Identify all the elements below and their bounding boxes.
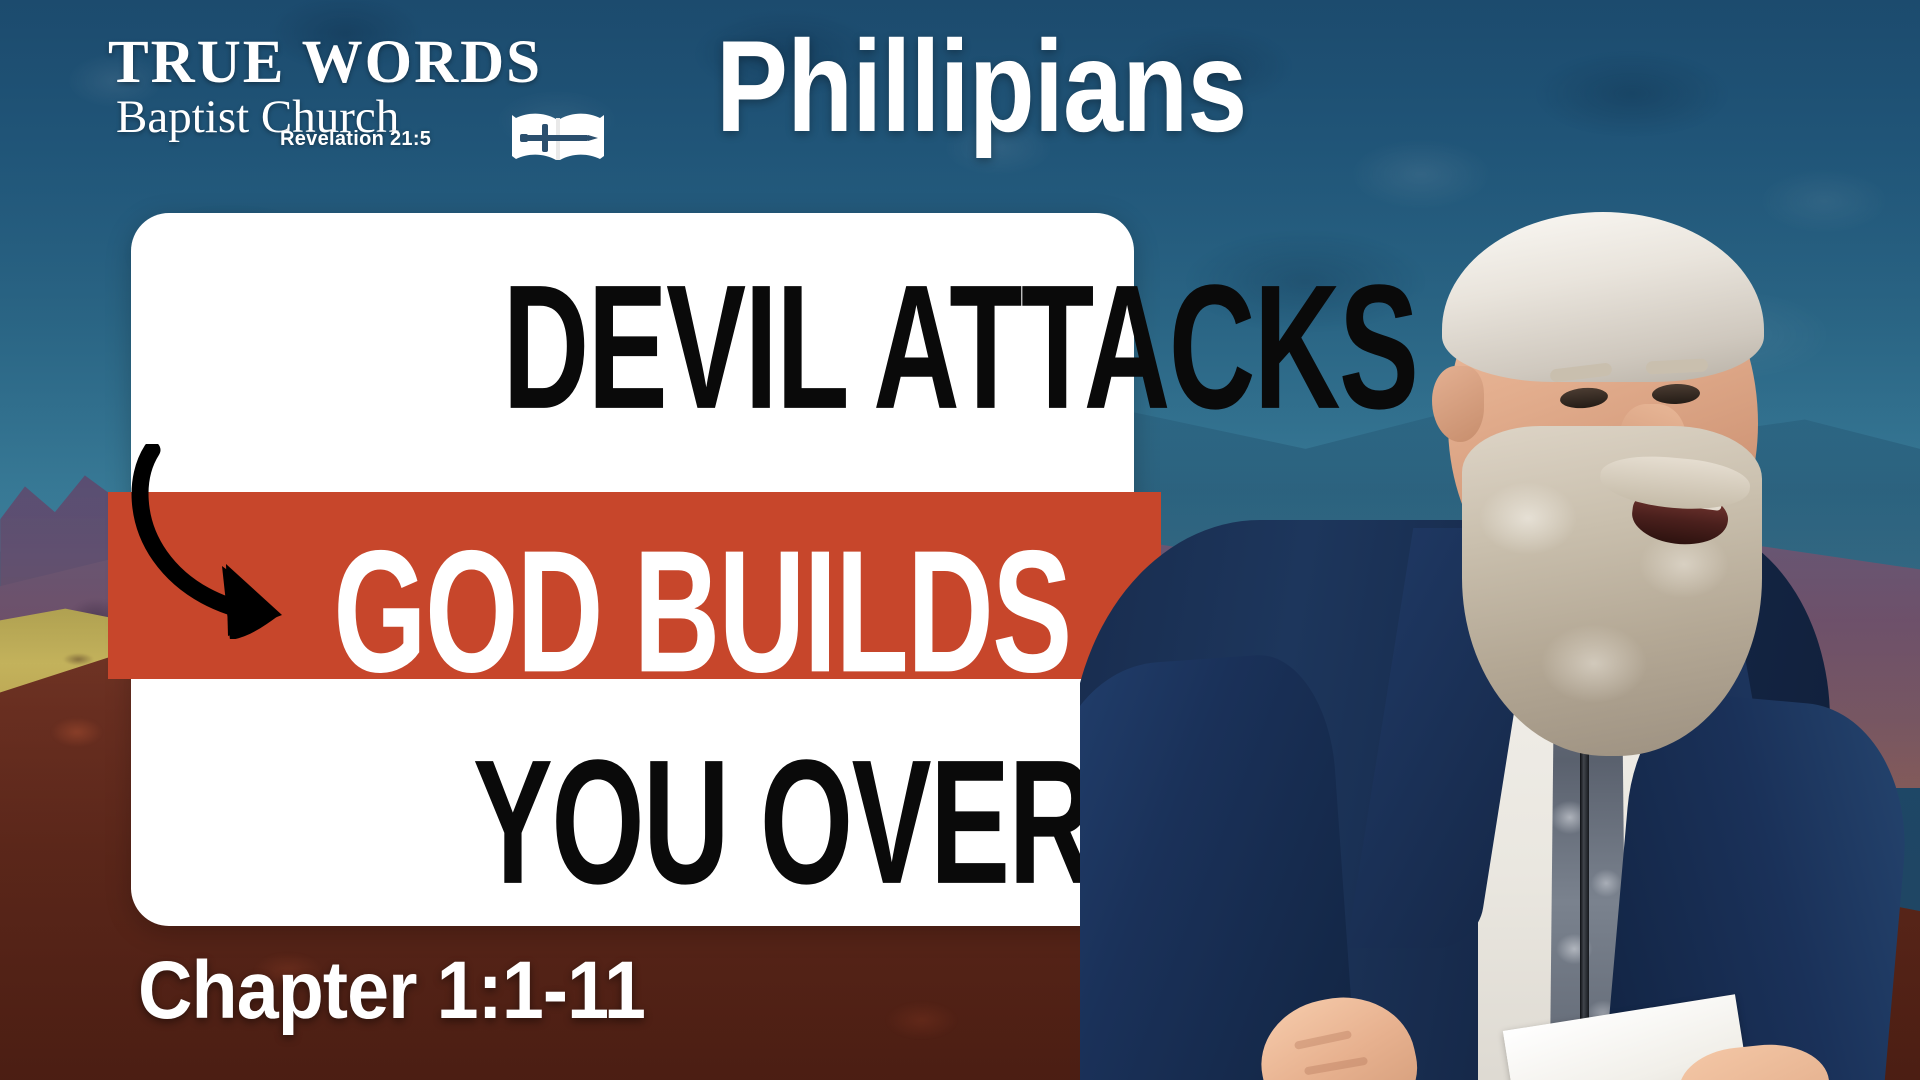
headline-accent-band: GOD BUILDS [108, 492, 1161, 679]
logo-verse-reference: Revelation 21:5 [280, 128, 431, 151]
series-title: Phillipians [716, 18, 1246, 155]
open-bible-with-sword-icon [512, 106, 604, 168]
logo-primary-name: TRUE WORDS [108, 32, 508, 93]
chapter-reference-label: Chapter 1:1-11 [138, 950, 645, 1032]
headline-line-2: GOD BUILDS [213, 524, 1055, 698]
thumbnail-canvas: TRUE WORDS Baptist Church Revelation 21:… [0, 0, 1920, 1080]
speaker-cutout [1080, 190, 1920, 1080]
